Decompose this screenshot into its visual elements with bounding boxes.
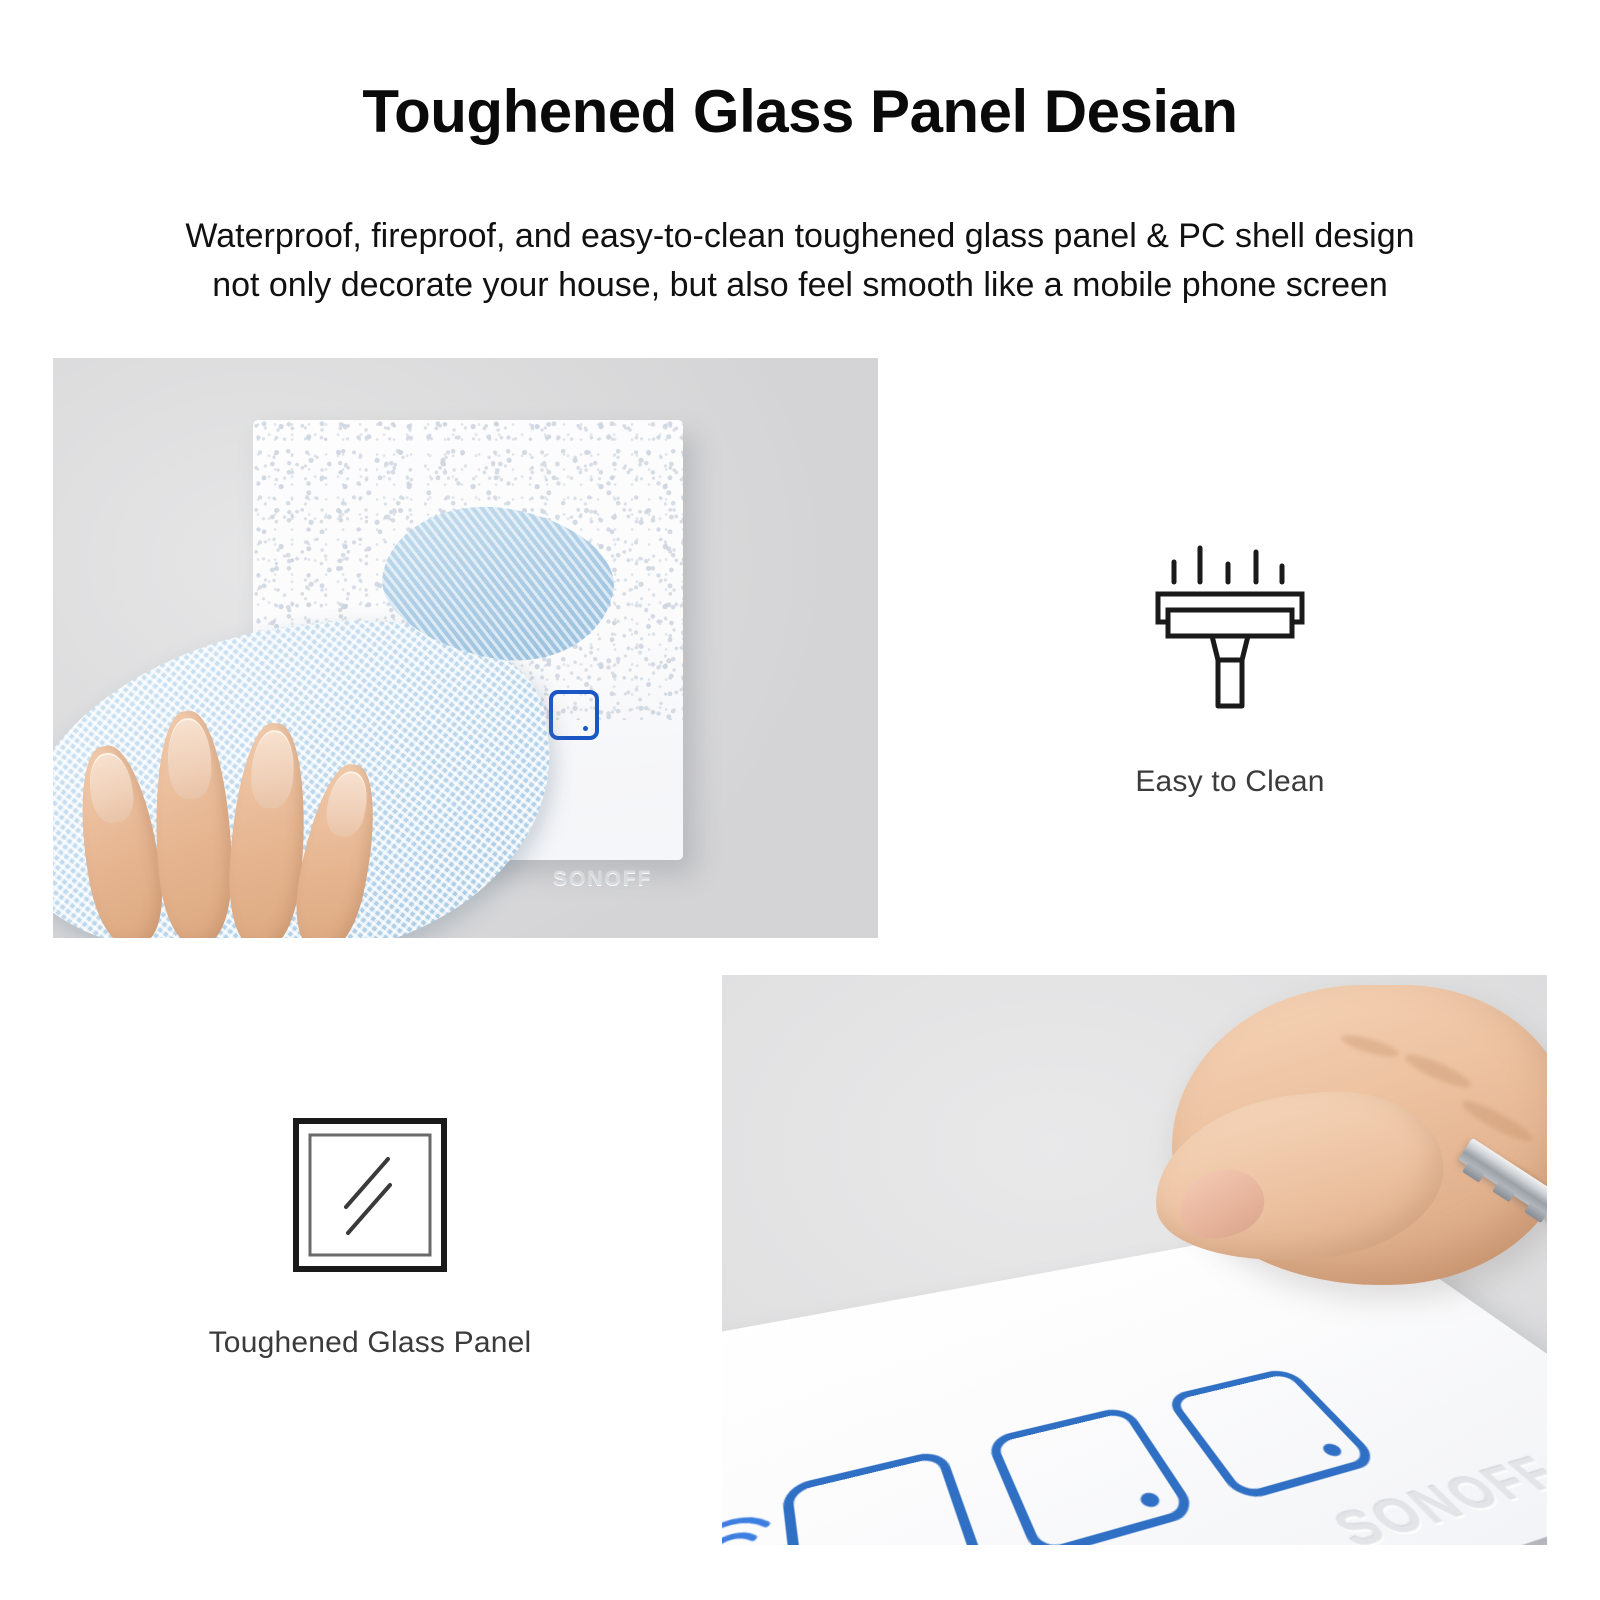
touch-button-indicator-dot (1319, 1442, 1345, 1458)
knuckle-crease (1339, 1031, 1401, 1061)
hand (1112, 975, 1547, 1415)
knuckle-crease (1458, 1095, 1536, 1147)
touch-button-1[interactable] (781, 1449, 988, 1545)
page-title: Toughened Glass Panel Desian (0, 82, 1600, 142)
squeegee-icon (1020, 540, 1440, 735)
thumbnail (1170, 1160, 1272, 1249)
knuckle-crease (1402, 1049, 1474, 1093)
fingernail (85, 750, 137, 826)
fingernail (249, 729, 296, 810)
feature-easy-to-clean: Easy to Clean (1020, 540, 1440, 799)
page-subtitle-line-2: not only decorate your house, but also f… (110, 261, 1490, 310)
feature-toughened-glass-panel-label: Toughened Glass Panel (120, 1326, 620, 1360)
feature-toughened-glass-panel: Toughened Glass Panel (120, 1115, 620, 1360)
touch-button-2[interactable] (985, 1405, 1200, 1545)
scratch-test-photo: SONOFF (722, 975, 1547, 1545)
page-subtitle: Waterproof, fireproof, and easy-to-clean… (110, 212, 1490, 311)
sonoff-brand-logo: SONOFF (553, 867, 653, 891)
glass-panel-icon (120, 1115, 620, 1280)
hand (68, 693, 398, 938)
finger (150, 709, 236, 938)
cleaning-photo: SONOFF (53, 358, 878, 938)
touch-button-indicator-dot (583, 726, 588, 731)
fingernail (166, 717, 213, 800)
touch-button-3[interactable] (549, 690, 599, 740)
fingernail (322, 768, 372, 840)
wifi-icon (722, 1509, 776, 1545)
feature-easy-to-clean-label: Easy to Clean (1020, 765, 1440, 799)
touch-button-indicator-dot (1137, 1491, 1162, 1509)
page-subtitle-line-1: Waterproof, fireproof, and easy-to-clean… (110, 212, 1490, 261)
